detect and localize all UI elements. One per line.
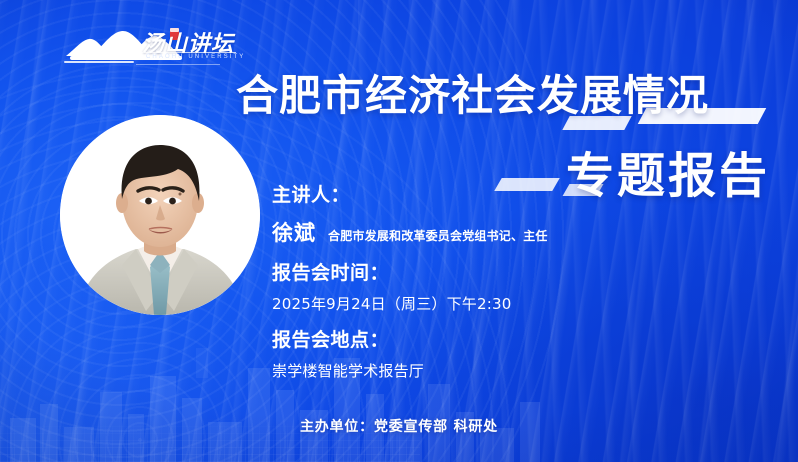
place-label: 报告会地点： [272,331,602,351]
speaker-role: 合肥市发展和改革委员会党组书记、主任 [328,227,548,244]
speaker-name: 徐斌 [272,217,316,247]
portrait-illustration [60,115,260,315]
event-info-block: 主讲人： 徐斌 合肥市发展和改革委员会党组书记、主任 报告会时间： 2025年9… [272,186,602,381]
poster-canvas: 汤山讲坛 CHAOHU UNIVERSITY [0,0,798,462]
logo-rule-bottom [136,64,220,65]
speaker-row: 徐斌 合肥市发展和改革委员会党组书记、主任 [272,217,602,247]
speaker-label: 主讲人： [272,186,602,206]
speaker-portrait [60,115,260,315]
place-value: 崇学楼智能学术报告厅 [272,360,602,381]
page-title-line1: 合肥市经济社会发展情况 [236,62,709,123]
time-value: 2025年9月24日（周三）下午2:30 [272,293,602,314]
time-label: 报告会时间： [272,264,602,284]
logo-name-en: CHAOHU UNIVERSITY [146,54,245,60]
site-logo: 汤山讲坛 CHAOHU UNIVERSITY [62,22,242,74]
logo-rule-top [140,52,236,53]
organizer-line: 主办单位：党委宣传部 科研处 [0,416,798,436]
